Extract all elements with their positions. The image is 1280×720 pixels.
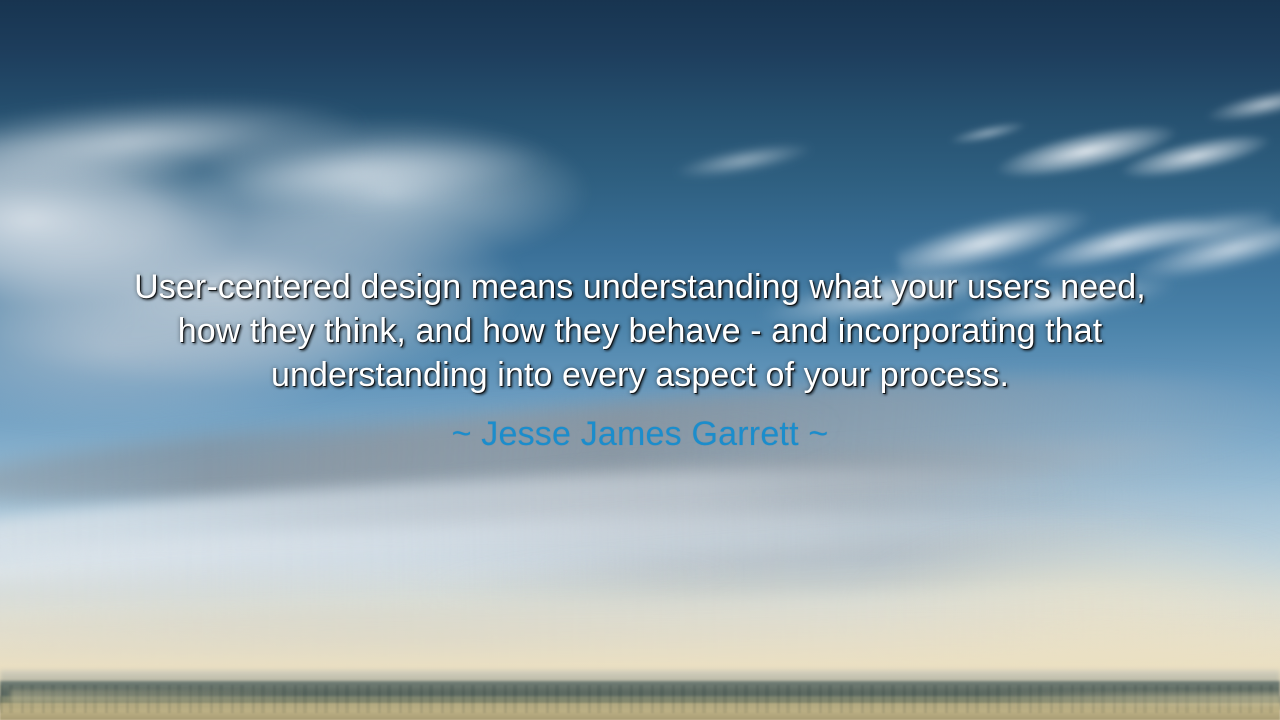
landscape-light-patch-right	[980, 692, 1280, 706]
quote-block: User-centered design means understanding…	[35, 265, 1245, 455]
quote-image-canvas: User-centered design means understanding…	[0, 0, 1280, 720]
quote-line-2: how they think, and how they behave - an…	[35, 309, 1245, 353]
landscape-light-patch-left	[10, 690, 310, 703]
quote-line-3: understanding into every aspect of your …	[35, 353, 1245, 397]
quote-attribution: ~ Jesse James Garrett ~	[35, 413, 1245, 455]
quote-line-1: User-centered design means understanding…	[35, 265, 1245, 309]
